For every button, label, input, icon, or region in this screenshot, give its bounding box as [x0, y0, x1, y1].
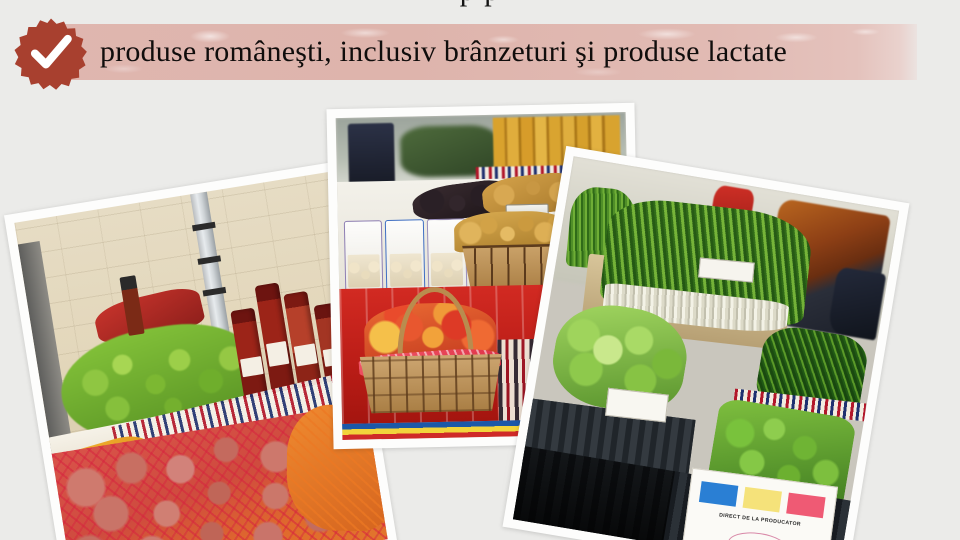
flag-bar-yellow: [742, 486, 781, 512]
overflow-text-above: p p: [0, 0, 960, 8]
slide-canvas: p p: [0, 0, 960, 540]
plastic-containers-group: [344, 218, 467, 291]
plastic-container: [344, 220, 384, 292]
flag-bar-blue: [699, 481, 738, 507]
fruit-basket: [354, 301, 507, 414]
wicker-basket-body: [355, 354, 507, 414]
certification-stamp: [725, 529, 788, 540]
verified-check-seal-badge: [11, 17, 91, 90]
photo-card-market-onions-lettuce-herbs: DIRECT DE LA PRODUCATOR: [503, 146, 910, 540]
photo-right-image: DIRECT DE LA PRODUCATOR: [513, 156, 899, 540]
headline-text: produse româneşti, inclusiv brânzeturi ş…: [100, 26, 930, 78]
plastic-container: [385, 219, 425, 291]
flag-bar-red: [786, 492, 825, 518]
